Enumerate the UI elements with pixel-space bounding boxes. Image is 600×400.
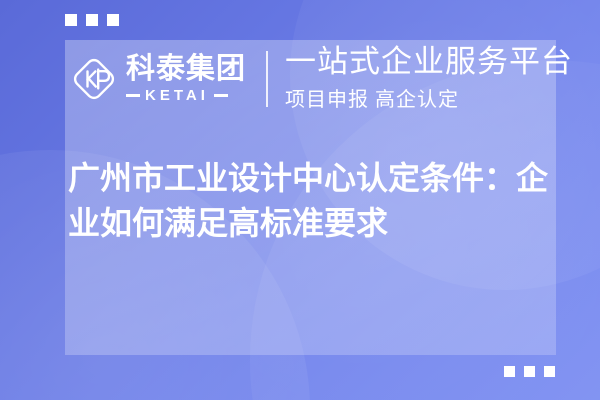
brand-name-cn: 科泰集团 xyxy=(126,55,246,84)
decorative-dots-bottom-right xyxy=(504,366,555,377)
brand-name-en: KETAI xyxy=(145,88,209,103)
headline-title: 广州市工业设计中心认定条件：企业如何满足高标准要求 xyxy=(68,156,568,247)
decorative-square xyxy=(65,14,77,26)
brand-logo-text: 科泰集团 KETAI xyxy=(126,55,246,103)
brand-logo: 科泰集团 KETAI xyxy=(70,55,246,103)
ketai-diamond-kd-monogram-icon xyxy=(70,55,118,103)
decorative-dots-top-left xyxy=(65,14,119,26)
brand-name-en-row: KETAI xyxy=(126,88,246,103)
banner-header: 科泰集团 KETAI 一站式企业服务平台 项目申报 高企认定 xyxy=(70,46,573,112)
brand-rule-left xyxy=(126,94,140,97)
tagline-group: 一站式企业服务平台 项目申报 高企认定 xyxy=(285,46,573,112)
promo-banner: 科泰集团 KETAI 一站式企业服务平台 项目申报 高企认定 广州市工业设计中心… xyxy=(0,0,600,400)
vertical-divider xyxy=(266,51,268,107)
decorative-square xyxy=(107,14,119,26)
tagline-secondary: 项目申报 高企认定 xyxy=(285,83,573,112)
decorative-square xyxy=(504,366,515,377)
brand-rule-right xyxy=(214,94,228,97)
tagline-primary: 一站式企业服务平台 xyxy=(285,46,573,78)
decorative-square xyxy=(524,366,535,377)
decorative-square xyxy=(86,14,98,26)
decorative-square xyxy=(544,366,555,377)
